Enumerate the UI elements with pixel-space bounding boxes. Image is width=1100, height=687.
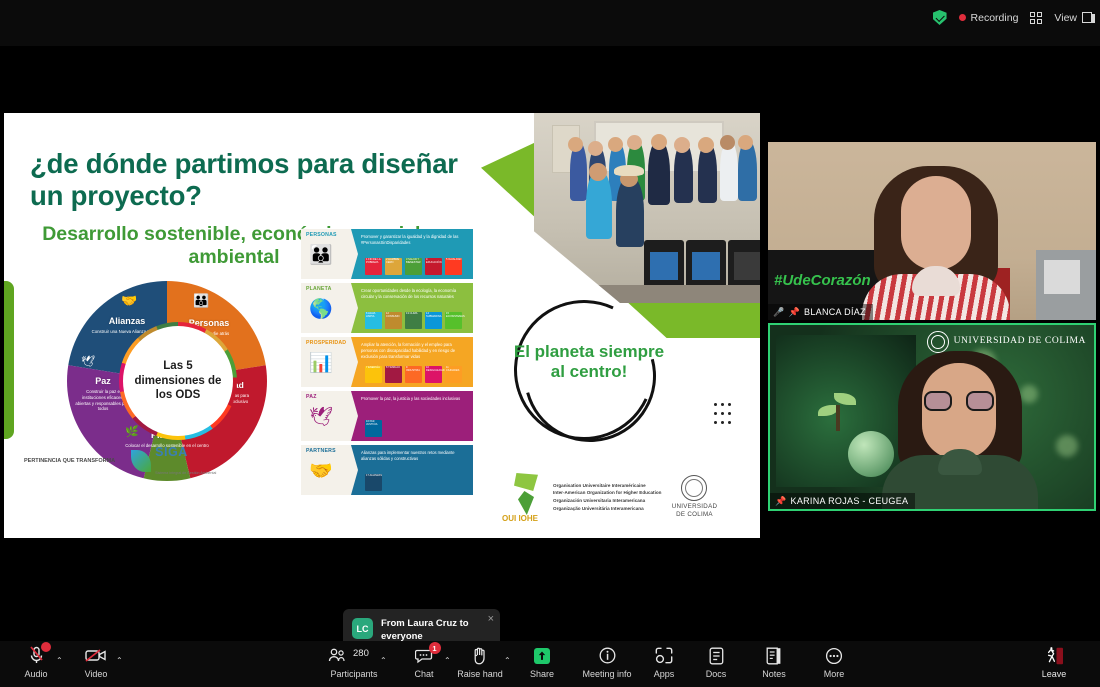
sdg-badge: 11 CIUDADES	[445, 366, 462, 383]
slide-footer-logos-right: OUI IOHE Organisation Universitaire Inte…	[502, 471, 720, 523]
handshake-icon: 🤝	[121, 293, 137, 309]
globe-icon	[848, 431, 894, 477]
participants-icon: 280	[322, 645, 386, 666]
sdg-badge: 14 SUBMARINA	[425, 312, 442, 329]
sdg-badge: 10 DESIGUALDAD	[425, 366, 442, 383]
chevron-up-icon[interactable]: ⌃	[380, 656, 387, 665]
udc-name: UNIVERSIDAD DE COLIMA	[668, 503, 720, 520]
dimension-name: PERSONAS	[306, 232, 351, 238]
camera-off-icon	[85, 645, 107, 666]
siga-label: SIGA	[155, 445, 188, 459]
meeting-stage: ¿de dónde partimos para diseñar un proye…	[0, 46, 1100, 641]
dimension-name: PROSPERIDAD	[306, 340, 351, 346]
audio-muted-badge	[41, 642, 51, 652]
chat-unread-badge: 1	[429, 642, 441, 654]
shared-screen-slide[interactable]: ¿de dónde partimos para diseñar un proye…	[4, 113, 760, 538]
participant-name-bar: 🎤 📌 BLANCA DÍAZ	[768, 304, 873, 320]
dimension-text: Alianzas para implementar nuestros retos…	[361, 450, 467, 462]
toolbar-participants-button[interactable]: 280 Participants ⌃	[322, 645, 386, 679]
oui-line-en: Inter-American Organization for Higher E…	[553, 489, 661, 497]
share-screen-icon	[533, 645, 551, 666]
sdg-badges: 6 AGUA LIMPIA 12 CONSUMO 13 CLIMA 14 SUB…	[365, 312, 462, 329]
toolbar-chat-button[interactable]: 1 Chat ⌃	[396, 645, 452, 679]
toolbar-label: Video	[85, 669, 108, 679]
sdg-badges: 17 ALIANZAS	[365, 474, 382, 491]
sdg-badge: 1 FIN DE LA POBREZA	[365, 258, 382, 275]
toolbar-label: Raise hand	[457, 669, 503, 679]
dove-icon: 🕊	[309, 408, 333, 427]
sdg-badge: 2 HAMBRE CERO	[385, 258, 402, 275]
toolbar-label: Participants	[330, 669, 377, 679]
oui-abbr: OUI IOHE	[502, 515, 538, 523]
udc-seal-icon	[681, 475, 707, 501]
leaf-icon: 🌿	[125, 425, 139, 438]
chat-bubble-icon: 1	[415, 645, 434, 666]
record-dot-icon	[959, 14, 966, 21]
dimension-text: Crear oportunidades desde la ecología, l…	[361, 288, 467, 300]
earth-icon: 🌎	[309, 300, 333, 319]
participant-name: KARINA ROJAS - CEUGEA	[791, 496, 909, 506]
participant-name: BLANCA DÍAZ	[804, 307, 866, 317]
toolbar-meeting-info-button[interactable]: Meeting info	[576, 645, 638, 679]
sprout-icon	[816, 383, 862, 433]
sdg-badge: 15 ECOSISTEMAS	[445, 312, 462, 329]
sdg-badge: 3 SALUD Y BIENESTAR	[405, 258, 422, 275]
glasses-icon	[924, 391, 994, 411]
toolbar-docs-button[interactable]: Docs	[688, 645, 744, 679]
sdg-badge: 8 TRABAJO	[385, 366, 402, 383]
toolbar-label: Chat	[414, 669, 433, 679]
dimension-row-paz: PAZ 🕊 Promover la paz, la justicia y las…	[301, 391, 473, 441]
sdg-badges: 1 FIN DE LA POBREZA 2 HAMBRE CERO 3 SALU…	[365, 258, 462, 275]
sdg-badge: 4 EDUCACIÓN	[425, 258, 442, 275]
oui-line-pt: Organização Universitária Interamericana	[553, 505, 661, 513]
handshake-icon: 🤝	[309, 462, 333, 481]
udc-watermark: UNIVERSIDAD DE COLIMA	[927, 331, 1086, 353]
toolbar-label: Leave	[1042, 669, 1067, 679]
dimension-row-personas: PERSONAS 👪 Promover y garantizar la igua…	[301, 229, 473, 279]
toast-title: From Laura Cruz to everyone	[381, 618, 490, 644]
toolbar-apps-button[interactable]: Apps	[636, 645, 692, 679]
udecorazon-text: #UdeCorazón	[774, 272, 871, 289]
microphone-muted-icon	[29, 645, 44, 666]
virtual-background-photo	[776, 335, 916, 487]
sdg-badge: 12 CONSUMO	[385, 312, 402, 329]
planeta-callout: El planeta siempre al centro!	[510, 296, 668, 454]
toolbar-raise-hand-button[interactable]: Raise hand ⌃	[452, 645, 508, 679]
pin-icon: 📌	[789, 307, 801, 318]
siga-leaf-icon	[131, 450, 151, 472]
recording-indicator[interactable]: Recording	[959, 12, 1019, 24]
view-label: View	[1054, 12, 1077, 24]
sdg-badges: 7 ENERGÍA 8 TRABAJO 9 INDUSTRIA 10 DESIG…	[365, 366, 462, 383]
dimension-text: Promover y garantizar la igualdad y la d…	[361, 234, 467, 246]
people-icon: 👪	[193, 293, 209, 309]
toolbar-label: More	[824, 669, 845, 679]
toolbar-label: Apps	[654, 669, 675, 679]
sdg-badge: 6 AGUA LIMPIA	[365, 312, 382, 329]
notes-icon	[766, 645, 782, 666]
dimension-name: PAZ	[306, 394, 351, 400]
info-circle-icon	[599, 645, 616, 666]
sdg-badges: 16 PAZ, JUSTICIA	[365, 420, 382, 437]
oui-line-fr: Organisation Universitaire Interaméricai…	[553, 482, 661, 490]
raise-hand-icon	[472, 645, 488, 666]
avatar: LC	[352, 618, 373, 639]
shield-check-icon[interactable]	[933, 10, 947, 25]
grid-view-icon[interactable]	[1030, 12, 1042, 24]
apps-icon	[655, 645, 673, 666]
toolbar-label: Docs	[706, 669, 727, 679]
siga-logo: SIGA Sistema Integral de Gestión Ambient…	[131, 443, 216, 479]
ods-dimension-rows: PERSONAS 👪 Promover y garantizar la igua…	[301, 229, 473, 499]
participant-name-bar: 📌 KARINA ROJAS - CEUGEA	[770, 493, 915, 509]
ellipsis-icon	[825, 645, 843, 666]
toolbar-notes-button[interactable]: Notes	[746, 645, 802, 679]
toolbar-leave-button[interactable]: Leave	[1026, 645, 1082, 679]
microphone-muted-icon: 🎤	[773, 307, 785, 318]
toolbar-label: Notes	[762, 669, 786, 679]
sdg-badge: 17 ALIANZAS	[365, 474, 382, 491]
sdg-badge: 16 PAZ, JUSTICIA	[365, 420, 382, 437]
meeting-window: Recording View	[0, 0, 1100, 687]
participant-tile-karina-rojas[interactable]: UNIVERSIDAD DE COLIMA 📌 KARINA ROJAS - C…	[768, 323, 1096, 511]
sdg-badge: 13 CLIMA	[405, 312, 422, 329]
toolbar-label: Share	[530, 669, 554, 679]
dimension-text: Promover la paz, la justicia y las socie…	[361, 396, 467, 402]
slide-title: ¿de dónde partimos para diseñar un proye…	[30, 148, 460, 212]
leave-door-icon	[1044, 645, 1064, 666]
wheel-center-label: Las 5 dimensiones de los ODS	[128, 331, 228, 431]
docs-icon	[709, 645, 724, 666]
slide-footer-logos-left: PERTINENCIA QUE TRANSFORMA SIGA Sistema …	[24, 443, 216, 479]
universidad-de-colima-logo: UNIVERSIDAD DE COLIMA	[668, 475, 720, 520]
pin-icon: 📌	[775, 496, 787, 507]
meeting-toolbar: Audio ⌃ Video ⌃ 280 Participants ⌃ 1 Cha…	[0, 641, 1100, 687]
slide-accent-strip	[4, 281, 14, 439]
toolbar-audio-button[interactable]: Audio ⌃	[8, 645, 64, 679]
chevron-up-icon[interactable]: ⌃	[56, 656, 63, 665]
chevron-up-icon[interactable]: ⌃	[116, 656, 123, 665]
layout-icon	[1082, 12, 1092, 23]
toolbar-label: Audio	[24, 669, 47, 679]
dimension-row-planeta: PLANETA 🌎 Crear oportunidades desde la e…	[301, 283, 473, 333]
pertinencia-logo: PERTINENCIA QUE TRANSFORMA	[24, 457, 115, 465]
planeta-callout-text: El planeta siempre al centro!	[510, 342, 668, 382]
top-bar-controls: Recording View	[933, 10, 1092, 25]
sdg-badge: 7 ENERGÍA	[365, 366, 382, 383]
family-icon: 👪	[309, 246, 333, 265]
dimension-name: PLANETA	[306, 286, 351, 292]
top-bar: Recording View	[0, 0, 1100, 46]
toolbar-label: Meeting info	[582, 669, 631, 679]
recording-label: Recording	[971, 12, 1019, 24]
dimension-name: PARTNERS	[306, 448, 351, 454]
dimension-text: Ampliar la atención, la formación y el e…	[361, 342, 467, 360]
bar-growth-icon: 📊	[309, 354, 333, 373]
oui-americas-icon: OUI IOHE	[502, 471, 546, 523]
udc-watermark-text: UNIVERSIDAD DE COLIMA	[954, 336, 1086, 347]
toolbar-more-button[interactable]: More	[806, 645, 862, 679]
sdg-badge: 5 IGUALDAD	[445, 258, 462, 275]
dove-icon: 🕊	[81, 355, 95, 368]
oui-line-es: Organización Universitaria Interamerican…	[553, 497, 661, 505]
chevron-up-icon[interactable]: ⌃	[504, 656, 511, 665]
view-button[interactable]: View	[1054, 12, 1092, 24]
oui-names: Organisation Universitaire Interaméricai…	[553, 482, 661, 512]
wheel-center: Las 5 dimensiones de los ODS	[123, 326, 233, 436]
toolbar-video-button[interactable]: Video ⌃	[68, 645, 124, 679]
dot-grid-decoration	[714, 403, 735, 430]
close-icon[interactable]: ×	[488, 613, 494, 625]
chevron-up-icon[interactable]: ⌃	[444, 656, 451, 665]
participant-video-feed	[898, 351, 1022, 511]
udc-seal-icon	[927, 331, 949, 353]
wheel-label-alianzas: Alianzas	[89, 317, 165, 326]
participant-tile-blanca-diaz[interactable]: #UdeCorazón 🎤 📌 BLANCA DÍAZ	[768, 142, 1096, 320]
siga-sublabel: Sistema Integral de Gestión Ambiental	[155, 471, 216, 475]
sdg-badge: 9 INDUSTRIA	[405, 366, 422, 383]
dimension-row-partners: PARTNERS 🤝 Alianzas para implementar nue…	[301, 445, 473, 495]
participant-video-feed	[874, 166, 998, 320]
participants-count: 280	[353, 648, 369, 659]
toolbar-share-button[interactable]: Share	[514, 645, 570, 679]
dimension-row-prosperidad: PROSPERIDAD 📊 Ampliar la atención, la fo…	[301, 337, 473, 387]
